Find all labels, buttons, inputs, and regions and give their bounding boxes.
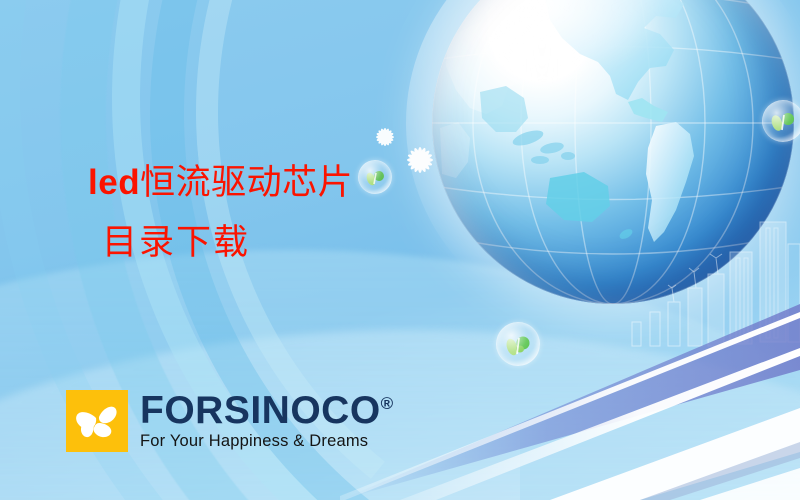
flower-sprite-small-icon [372, 124, 398, 150]
four-petal-flower-icon [66, 390, 128, 452]
logo-brand-name: FORSINOCO® [140, 391, 394, 430]
headline-text: led恒流驱动芯片 目录下载 [88, 160, 353, 265]
bubble-shell [358, 160, 392, 194]
registered-trademark-icon: ® [381, 394, 394, 413]
headline-line-1: led恒流驱动芯片 [88, 160, 353, 206]
logo-lockup[interactable]: FORSINOCO® For Your Happiness & Dreams [66, 390, 394, 452]
headline-latin-prefix: led [88, 163, 140, 202]
logo-mark [66, 390, 128, 452]
bubble-sprout-left [358, 160, 392, 194]
headline-cjk-suffix: 恒流驱动芯片 [140, 163, 353, 202]
bubble-shell [762, 100, 800, 142]
logo-tagline: For Your Happiness & Dreams [140, 432, 394, 451]
headline-line-2: 目录下载 [102, 220, 353, 266]
diagonal-swoosh-lines [340, 300, 800, 500]
logo-text-block: FORSINOCO® For Your Happiness & Dreams [140, 391, 394, 451]
flower-sprite-large-icon [402, 142, 438, 178]
logo-brand-word: FORSINOCO [140, 389, 381, 432]
banner-canvas: led恒流驱动芯片 目录下载 FORSINOCO® For Your Happi… [0, 0, 800, 500]
bubble-sprout-right [762, 100, 800, 142]
